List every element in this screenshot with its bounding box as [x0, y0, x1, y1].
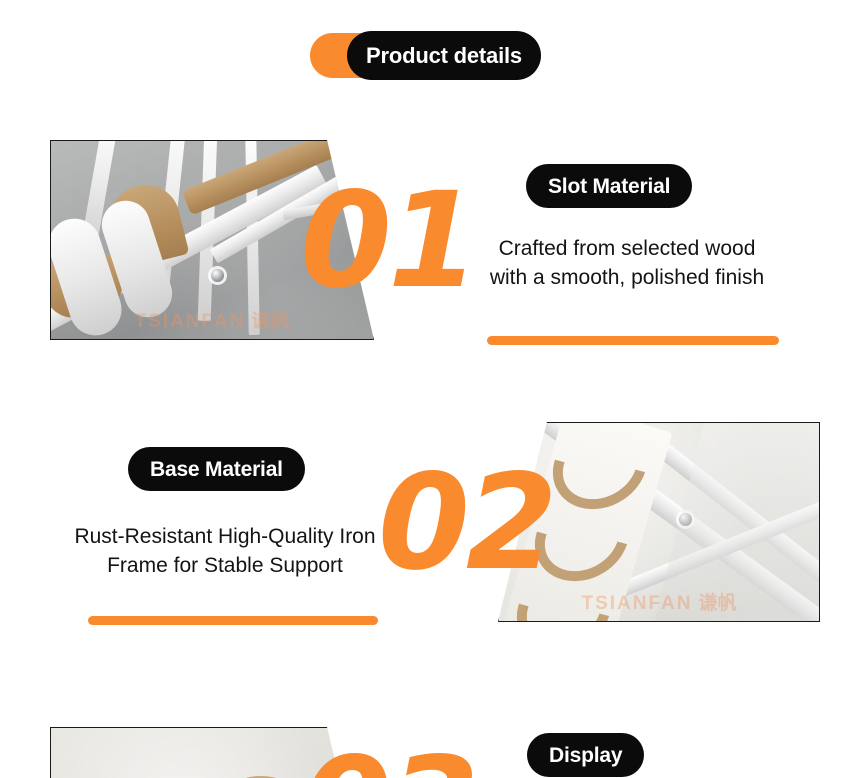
section-01-badge: Slot Material — [526, 164, 692, 208]
section-01: TSIANFAN谦帆 01 Slot Material Crafted from… — [0, 130, 850, 360]
page-header: Product details — [0, 0, 850, 110]
section-02-accent-bar — [88, 616, 378, 625]
section-03-badge: Display — [527, 733, 644, 777]
section-02: TSIANFAN谦帆 02 Base Material Rust-Resista… — [0, 412, 850, 642]
section-02-description: Rust-Resistant High-Quality Iron Frame f… — [40, 522, 410, 580]
section-01-accent-bar — [487, 336, 779, 345]
section-03: TSIANFAN谦帆 03 Display — [0, 694, 850, 778]
page-title-pill: Product details — [347, 31, 541, 80]
section-03-number: 03 — [300, 740, 476, 778]
section-02-badge-label: Base Material — [150, 459, 283, 480]
section-03-badge-label: Display — [549, 745, 622, 766]
section-02-badge: Base Material — [128, 447, 305, 491]
product-details-page: Product details — [0, 0, 850, 778]
section-01-description: Crafted from selected wood with a smooth… — [452, 234, 802, 292]
section-01-badge-label: Slot Material — [548, 176, 670, 197]
section-01-number: 01 — [300, 175, 476, 307]
page-title: Product details — [366, 45, 522, 67]
